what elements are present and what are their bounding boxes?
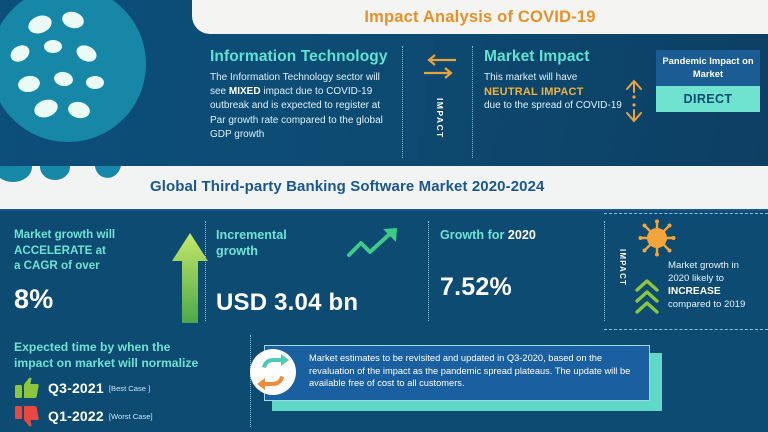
- infographic-canvas: Impact Analysis of COVID-19 Information …: [0, 0, 768, 432]
- impact-panel: IMPACT: [614, 217, 768, 329]
- impact-text-line2: 2020 likely to: [668, 273, 724, 284]
- it-body-highlight: MIXED: [229, 86, 261, 97]
- mi-body-part2: due to the spread of COVID-19: [484, 100, 622, 111]
- pandemic-impact-heading: Pandemic Impact on Market: [656, 50, 760, 86]
- worst-case-value: Q1-2022: [48, 408, 104, 424]
- metric-divider-2: [428, 221, 429, 321]
- top-divider-left: [402, 46, 403, 158]
- coronavirus-icon: [0, 0, 178, 166]
- metric-growth-value: 7.52%: [440, 273, 610, 302]
- metric-growth-heading: Growth for 2020: [440, 227, 610, 243]
- bidirectional-horizontal-arrows-icon: [420, 52, 460, 82]
- metric-growth-prefix: Growth for: [440, 228, 508, 242]
- impact-panel-label: IMPACT: [618, 249, 627, 286]
- impact-text-line3: compared to 2019: [668, 299, 745, 310]
- best-case-note: [Best Case ]: [109, 384, 150, 393]
- metrics-row: Market growth will ACCELERATE at a CAGR …: [0, 211, 768, 331]
- metric-cagr: Market growth will ACCELERATE at a CAGR …: [14, 227, 164, 315]
- impact-text-line1: Market growth in: [668, 260, 739, 271]
- metric-growth-year: 2020: [508, 228, 536, 242]
- thumbs-up-icon: [14, 377, 40, 399]
- report-title-bar: Global Third-party Banking Software Mark…: [0, 166, 768, 211]
- decorative-blob-1: [0, 166, 32, 182]
- best-case-value: Q3-2021: [48, 380, 104, 396]
- update-note-text: Market estimates to be revisited and upd…: [264, 345, 650, 401]
- impact-panel-text: Market growth in 2020 likely to INCREASE…: [668, 259, 766, 311]
- best-case-row: Q3-2021 [Best Case ]: [14, 377, 250, 399]
- market-impact-column: Market Impact This market will have NEUT…: [484, 48, 632, 114]
- pandemic-impact-box: Pandemic Impact on Market DIRECT: [656, 50, 760, 112]
- virus-icon: [638, 219, 676, 257]
- metric-incremental-line2: growth: [216, 244, 258, 258]
- decorative-blob-2: [40, 166, 70, 180]
- worst-case-note: [Worst Case]: [109, 412, 153, 421]
- vertical-double-arrow-icon: [622, 78, 646, 124]
- normalize-line2: impact on market will normalize: [14, 356, 198, 370]
- metric-cagr-heading: Market growth will ACCELERATE at a CAGR …: [14, 227, 164, 274]
- mi-body-part1: This market will have: [484, 72, 577, 83]
- update-note-block: Market estimates to be revisited and upd…: [264, 345, 662, 411]
- trend-up-icon: [345, 225, 401, 265]
- mi-body-highlight: NEUTRAL IMPACT: [484, 85, 632, 99]
- impact-text-bold: INCREASE: [668, 286, 721, 297]
- market-impact-heading: Market Impact: [484, 48, 632, 66]
- information-technology-column: Information Technology The Information T…: [210, 48, 390, 142]
- market-impact-body: This market will have NEUTRAL IMPACT due…: [484, 71, 632, 114]
- normalize-timeline-block: Expected time by when the impact on mark…: [14, 339, 250, 427]
- bottom-section: Expected time by when the impact on mark…: [0, 331, 768, 432]
- decorative-blob-3: [91, 166, 125, 182]
- top-impact-band: Impact Analysis of COVID-19 Information …: [0, 0, 768, 166]
- worst-case-row: Q1-2022 [Worst Case]: [14, 405, 250, 427]
- page-title-plate: Impact Analysis of COVID-19: [192, 0, 768, 34]
- impact-panel-top-dash: [604, 213, 768, 214]
- metric-cagr-line3: a CAGR of over: [14, 259, 100, 272]
- report-title: Global Third-party Banking Software Mark…: [150, 178, 544, 195]
- impact-axis-group: IMPACT: [420, 52, 460, 156]
- metric-cagr-line2: ACCELERATE at: [14, 244, 106, 257]
- pandemic-impact-value: DIRECT: [656, 86, 760, 112]
- metric-incremental-value: USD 3.04 bn: [216, 289, 396, 317]
- impact-axis-label: IMPACT: [435, 98, 445, 139]
- metric-cagr-line1: Market growth will: [14, 228, 115, 241]
- metric-incremental-line1: Incremental: [216, 228, 287, 242]
- up-chevrons-icon: [632, 277, 662, 317]
- it-body: The Information Technology sector will s…: [210, 71, 390, 142]
- metric-growth-2020: Growth for 2020 7.52%: [440, 227, 610, 302]
- top-divider-right: [472, 46, 473, 158]
- normalize-line1: Expected time by when the: [14, 340, 170, 354]
- metric-cagr-value: 8%: [14, 284, 164, 315]
- it-heading: Information Technology: [210, 48, 390, 66]
- thumbs-down-icon: [14, 405, 40, 427]
- impact-panel-bottom-dash: [604, 329, 768, 330]
- normalize-heading: Expected time by when the impact on mark…: [14, 339, 250, 371]
- metric-divider-3: [604, 221, 605, 321]
- sync-refresh-icon: [250, 349, 296, 395]
- up-arrow-icon: [170, 231, 210, 323]
- metric-divider-1: [205, 221, 206, 321]
- page-title: Impact Analysis of COVID-19: [364, 8, 595, 27]
